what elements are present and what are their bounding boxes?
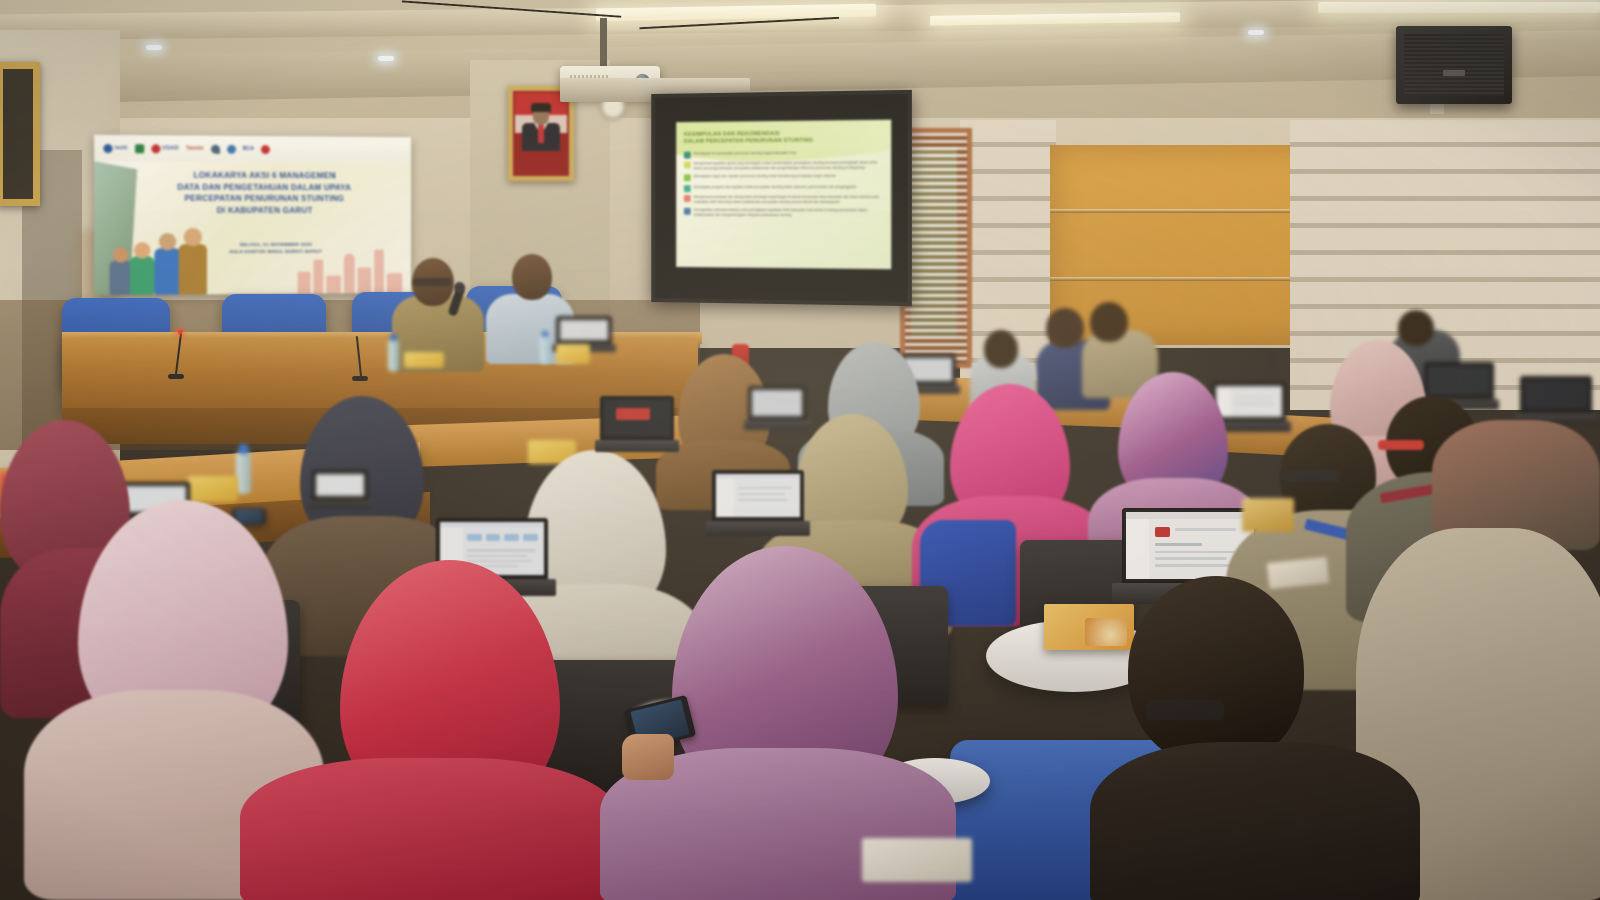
microphone-capsule-icon xyxy=(454,282,465,293)
slide-bullet-text: Menetapkan target dan capaian penurunan … xyxy=(694,174,836,181)
eyeglasses-icon xyxy=(1282,470,1340,482)
slide-bullet-chip-icon xyxy=(684,185,691,192)
slide-bullet: Menetapkan target dan capaian penurunan … xyxy=(684,174,883,182)
attendee-head xyxy=(984,330,1018,368)
microphone-base xyxy=(168,374,184,379)
slide-bullet: Memperkuat koordinasi dan sinergi antar … xyxy=(684,195,883,205)
banner-title-line: PERCEPATAN PENURUNAN STUNTING xyxy=(125,193,401,205)
water-bottle[interactable] xyxy=(236,452,251,494)
snack-pack xyxy=(556,344,590,364)
snack-pack xyxy=(404,352,444,368)
banner-logo xyxy=(227,143,236,154)
banner-logo-garut-crest xyxy=(135,143,144,154)
water-bottle[interactable] xyxy=(388,340,399,372)
banner-title-line: DI KABUPATEN GARUT xyxy=(125,205,401,217)
slide-bullet-text: Memperkuat koordinasi dan sinergi antar … xyxy=(694,195,883,205)
banner-title-line: DATA DAN PENGETAHUAN DALAM UPAYA xyxy=(125,181,401,193)
event-banner: tasbi USAID Tanoto BCA LOKAKARYA AKSI 6 … xyxy=(94,135,411,295)
open-laptop[interactable] xyxy=(712,470,804,536)
banner-logo xyxy=(211,143,220,154)
wall-picture-frame xyxy=(0,62,40,206)
speaker-mount xyxy=(1430,104,1444,114)
slide-bullet-text: Memperkuat kapasitas aparat yang menanga… xyxy=(694,161,883,171)
photo-scene: KESIMPULAN DAN REKOMENDASI DALAM PERCEPA… xyxy=(0,0,1600,900)
ceiling-downlight-4 xyxy=(1248,30,1264,35)
banner-skyline-graphic xyxy=(292,242,407,294)
snack-pack xyxy=(188,476,238,502)
banner-logo-row: tasbi USAID Tanoto BCA xyxy=(94,135,411,163)
slide-bullet-chip-icon xyxy=(684,208,691,215)
microphone-led-icon xyxy=(178,330,182,334)
speaker-panelist-head xyxy=(512,254,552,300)
slide-bullet-text: Menetapkan program dan kegiatan terkait … xyxy=(694,185,857,192)
banner-figure xyxy=(129,242,155,295)
open-laptop[interactable] xyxy=(312,470,368,508)
attendee-head xyxy=(1090,302,1128,342)
eyeglasses-icon xyxy=(1146,700,1224,720)
slide-bullet-chip-icon xyxy=(684,175,691,182)
projector-mount-pole xyxy=(600,18,607,66)
attendee-foreground-man-head xyxy=(1128,576,1304,766)
catering-snack-box[interactable] xyxy=(1044,604,1134,650)
paper-document xyxy=(862,838,972,882)
banner-figure xyxy=(178,228,208,295)
wall-loudspeaker xyxy=(1396,26,1512,104)
ceiling-downlight-2 xyxy=(378,56,394,61)
microphone-base xyxy=(352,376,368,381)
slide-bullet-chip-icon xyxy=(684,195,691,202)
slide-bullet-chip-icon xyxy=(684,151,691,158)
banner-title-line: LOKAKARYA AKSI 6 MANAGEMEN xyxy=(125,169,401,182)
attendee-head xyxy=(1398,310,1434,346)
speaker-presenter-glasses-icon xyxy=(413,278,451,286)
attendee-red-patterned-shoulders xyxy=(240,758,620,900)
water-bottle[interactable] xyxy=(540,336,550,364)
slide-bullet-text: Meningkatkan advokasi edukasi untuk peni… xyxy=(694,208,883,218)
attendee-hand xyxy=(622,734,674,780)
projection-screen: KESIMPULAN DAN REKOMENDASI DALAM PERCEPA… xyxy=(651,90,912,306)
presentation-slide: KESIMPULAN DAN REKOMENDASI DALAM PERCEPA… xyxy=(676,120,891,269)
slide-bullet-text: Menetapkan tim percepatan penurunan stun… xyxy=(694,151,796,159)
banner-family-illustration xyxy=(106,226,218,295)
red-eyeglasses-icon xyxy=(1378,440,1424,450)
banner-logo: BCA xyxy=(243,143,254,154)
snack-pack xyxy=(1242,498,1294,532)
slide-bullet: Menetapkan tim percepatan penurunan stun… xyxy=(684,150,883,158)
slide-bullet: Memperkuat kapasitas aparat yang menanga… xyxy=(684,161,883,171)
ceiling-light-tube-3 xyxy=(1318,2,1600,13)
slide-title-line-2: DALAM PERCEPATAN PENURUNAN STUNTING xyxy=(684,137,883,146)
banner-logo xyxy=(261,144,270,155)
attendee-head xyxy=(1046,308,1084,348)
slide-bullet: Menetapkan program dan kegiatan terkait … xyxy=(684,185,883,192)
banner-logo: Tanoto xyxy=(186,143,204,154)
slide-bullet: Meningkatkan advokasi edukasi untuk peni… xyxy=(684,208,883,218)
open-laptop[interactable] xyxy=(1520,376,1592,424)
ceiling-downlight-1 xyxy=(146,45,162,50)
slide-bullet-chip-icon xyxy=(684,162,691,169)
banner-logo: USAID xyxy=(151,143,179,154)
banner-logo: tasbi xyxy=(103,142,127,153)
open-laptop[interactable] xyxy=(748,386,806,430)
attendee-foreground-man-body xyxy=(1090,742,1420,900)
open-laptop[interactable] xyxy=(600,396,674,452)
banner-title: LOKAKARYA AKSI 6 MANAGEMEN DATA DAN PENG… xyxy=(125,169,401,216)
